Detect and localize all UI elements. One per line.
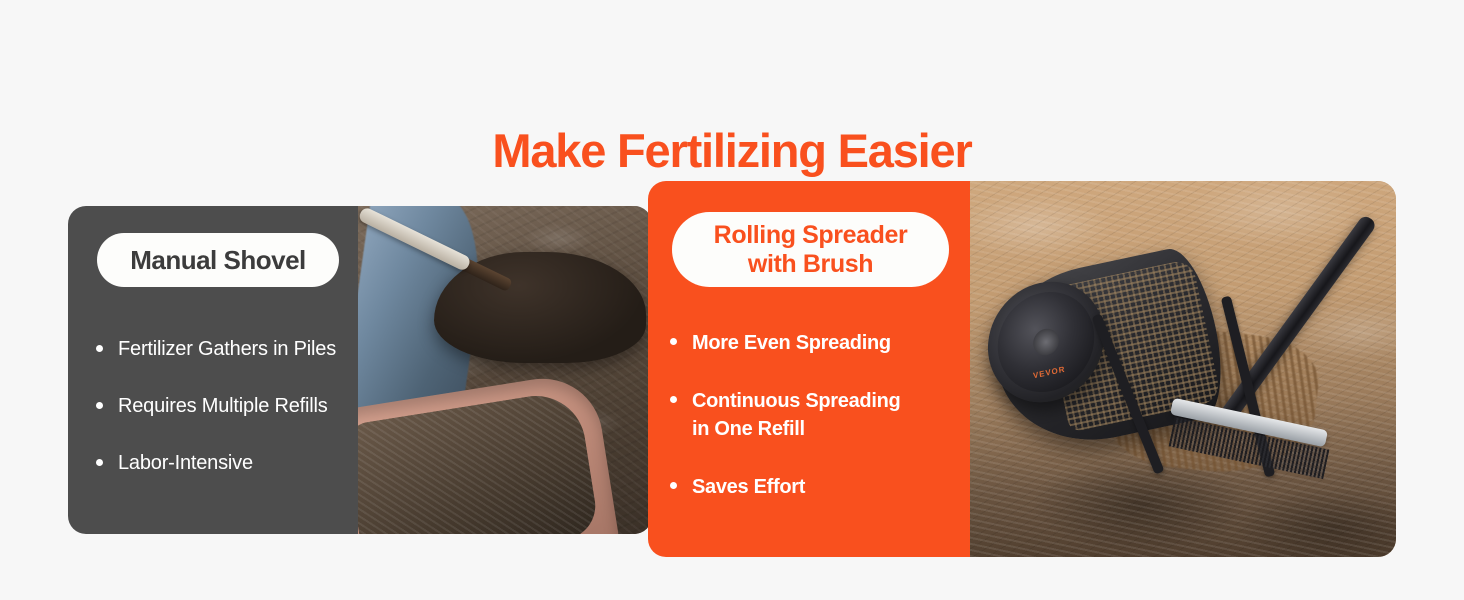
list-item: Labor-Intensive bbox=[96, 450, 346, 476]
pill-line-2: with Brush bbox=[748, 250, 873, 278]
spreader-wheel-hub bbox=[1032, 326, 1060, 357]
brand-mark: VEVOR bbox=[1033, 364, 1066, 380]
bullet-text-line-1: Continuous Spreading bbox=[692, 390, 900, 412]
bullet-text: Saves Effort bbox=[692, 476, 805, 498]
page-title: Make Fertilizing Easier bbox=[0, 123, 1464, 179]
comparison-stage: Make Fertilizing Easier Manual Shovel Fe… bbox=[0, 0, 1464, 600]
pill-line-1: Rolling Spreader bbox=[714, 221, 908, 249]
manual-shovel-panel: Manual Shovel Fertilizer Gathers in Pile… bbox=[68, 206, 358, 534]
manual-shovel-bullet-list: Fertilizer Gathers in Piles Requires Mul… bbox=[96, 336, 346, 476]
manual-shovel-card: Manual Shovel Fertilizer Gathers in Pile… bbox=[68, 206, 652, 534]
list-item: More Even Spreading bbox=[670, 329, 960, 357]
manual-shovel-pill-label: Manual Shovel bbox=[130, 245, 306, 276]
rolling-spreader-photo: VEVOR bbox=[970, 181, 1396, 557]
rolling-spreader-bullet-list: More Even Spreading Continuous Spreading… bbox=[670, 329, 960, 501]
rolling-spreader-pill-label: Rolling Spreader with Brush bbox=[714, 221, 908, 279]
list-item: Saves Effort bbox=[670, 473, 960, 501]
manual-shovel-photo bbox=[358, 206, 652, 534]
list-item: Requires Multiple Refills bbox=[96, 393, 346, 419]
bullet-text: Fertilizer Gathers in Piles bbox=[118, 338, 336, 360]
rolling-spreader-pill: Rolling Spreader with Brush bbox=[672, 212, 949, 287]
manual-shovel-pill: Manual Shovel bbox=[97, 233, 339, 287]
bullet-text: Requires Multiple Refills bbox=[118, 395, 328, 417]
list-item: Continuous Spreading in One Refill bbox=[670, 387, 960, 443]
bullet-text: Labor-Intensive bbox=[118, 452, 253, 474]
list-item: Fertilizer Gathers in Piles bbox=[96, 336, 346, 362]
rolling-spreader-card: Rolling Spreader with Brush More Even Sp… bbox=[648, 181, 1396, 557]
bullet-text: More Even Spreading bbox=[692, 332, 891, 354]
bullet-text-line-2: in One Refill bbox=[692, 418, 805, 440]
wheelbarrow-contents bbox=[358, 389, 600, 534]
rolling-spreader-panel: Rolling Spreader with Brush More Even Sp… bbox=[648, 181, 970, 557]
